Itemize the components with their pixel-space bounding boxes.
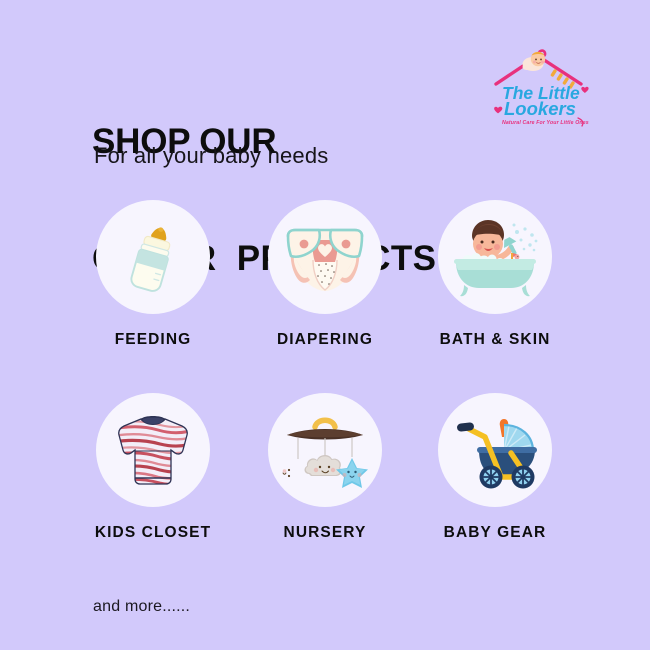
- category-item-nursery[interactable]: NURSERY: [250, 393, 400, 542]
- category-label: BATH & SKIN: [420, 331, 570, 349]
- diaper-icon: [279, 214, 371, 300]
- category-item-bath-and-skin[interactable]: BATH & SKIN: [420, 200, 570, 349]
- stroller-icon: [449, 407, 541, 493]
- category-icon-circle: [438, 393, 552, 507]
- promo-poster: SHOP OUR OTHER PRODUCTS For all your bab…: [0, 0, 650, 650]
- category-item-feeding[interactable]: FEEDING: [78, 200, 228, 349]
- logo-tagline: Natural Care For Your Little Ones: [502, 120, 589, 126]
- category-icon-circle: [438, 200, 552, 314]
- header: SHOP OUR OTHER PRODUCTS For all your bab…: [0, 0, 650, 200]
- logo-name-part2: Lookers: [504, 98, 576, 119]
- category-icon-circle: [96, 200, 210, 314]
- category-item-kids-closet[interactable]: KIDS CLOSET: [78, 393, 228, 542]
- brand-logo[interactable]: The Little Lookers Natural Care For Your…: [486, 38, 596, 128]
- category-icon-circle: [268, 393, 382, 507]
- category-item-diapering[interactable]: DIAPERING: [250, 200, 400, 349]
- subtitle: For all your baby needs: [94, 143, 329, 169]
- category-icon-circle: [268, 200, 382, 314]
- category-label: DIAPERING: [250, 331, 400, 349]
- category-row-1: FEEDING: [0, 200, 650, 393]
- category-label: KIDS CLOSET: [78, 524, 228, 542]
- category-label: NURSERY: [250, 524, 400, 542]
- baby-in-bathtub-icon: [448, 214, 542, 300]
- brand-logo-icon: The Little Lookers Natural Care For Your…: [486, 38, 596, 128]
- category-grid: FEEDING: [0, 200, 650, 586]
- and-more-text: and more......: [93, 598, 190, 616]
- category-label: FEEDING: [78, 331, 228, 349]
- striped-tshirt-icon: [108, 407, 198, 493]
- crib-mobile-icon: [279, 407, 371, 493]
- category-label: BABY GEAR: [420, 524, 570, 542]
- baby-bottle-icon: [110, 214, 196, 300]
- category-item-baby-gear[interactable]: BABY GEAR: [420, 393, 570, 542]
- category-icon-circle: [96, 393, 210, 507]
- category-row-2: KIDS CLOSET: [0, 393, 650, 586]
